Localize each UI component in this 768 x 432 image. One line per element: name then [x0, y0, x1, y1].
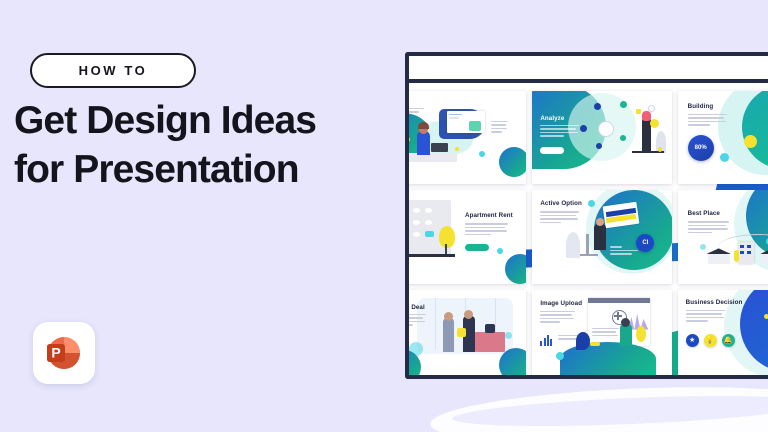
slide-thumbnail[interactable]: Building 80% [678, 91, 768, 184]
slide-title: Business Decision [686, 299, 743, 306]
slide-stat-value: 80% [695, 145, 707, 151]
slide-thumbnail[interactable]: Analyze [532, 91, 671, 184]
how-to-badge-label: HOW TO [79, 63, 148, 78]
slide-title: Best Place [688, 210, 720, 217]
slide-thumbnail[interactable]: Best Place [678, 190, 768, 283]
how-to-badge: HOW TO [30, 53, 196, 88]
slide-thumbnail[interactable]: Active Option CI [532, 190, 671, 283]
slide-thumbnail[interactable]: Business Decision ★ 💡 🔔 [678, 290, 768, 375]
presentation-preview-frame[interactable]: ing Analyze [405, 52, 768, 379]
slide-title: Image Upload [540, 300, 582, 307]
bulb-icon[interactable]: 💡 [704, 334, 717, 347]
page-title: Get Design Ideas for Presentation [14, 96, 394, 194]
slide-title: Building [688, 103, 714, 110]
slide-title: Analyze [540, 115, 564, 122]
page-title-line-2: for Presentation [14, 145, 394, 194]
svg-text:P: P [51, 345, 60, 361]
slide-thumbnail[interactable]: Image Upload [532, 290, 671, 375]
slide-thumbnail[interactable]: ness Deal [409, 290, 526, 375]
screenshot-canvas: HOW TO Get Design Ideas for Presentation… [0, 0, 768, 432]
slide-cta-button[interactable] [540, 147, 564, 154]
bar-chart-icon [540, 334, 552, 346]
powerpoint-icon-glyph: P [43, 332, 85, 374]
left-panel: HOW TO Get Design Ideas for Presentation… [0, 0, 400, 432]
slide-stat-badge: 80% [688, 135, 714, 161]
powerpoint-icon[interactable]: P [33, 322, 95, 384]
slide-title: ness Deal [409, 304, 425, 311]
slide-thumbnail[interactable]: Apartment Rent [409, 190, 526, 283]
preview-frame-titlebar [409, 56, 768, 83]
slide-thumbnail-grid: ing Analyze [409, 91, 768, 375]
slide-thumbnail[interactable]: ing [409, 91, 526, 184]
slide-title: Apartment Rent [465, 212, 513, 219]
slide-title: Active Option [540, 200, 582, 207]
star-icon[interactable]: ★ [686, 334, 699, 347]
slide-cta-button[interactable] [465, 244, 489, 251]
page-title-line-1: Get Design Ideas [14, 99, 316, 142]
slide-deck-canvas: ing Analyze [409, 87, 768, 375]
bell-icon[interactable]: 🔔 [722, 334, 735, 347]
